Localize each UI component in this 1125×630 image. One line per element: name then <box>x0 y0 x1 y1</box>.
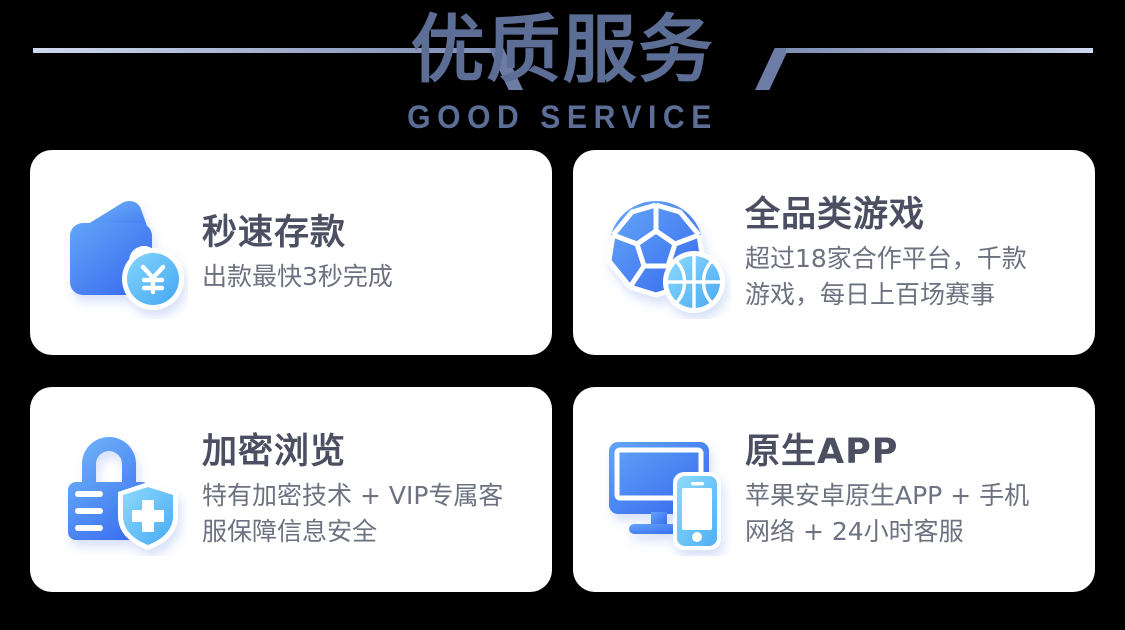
feature-card-deposit[interactable]: 秒速存款 出款最快3秒完成 <box>30 150 552 355</box>
feature-desc-line: 网络 + 24小时客服 <box>745 514 1079 550</box>
feature-title: 全品类游戏 <box>745 193 1079 237</box>
lock-shield-icon <box>56 424 188 556</box>
feature-card-text: 加密浏览 特有加密技术 + VIP专属客 服保障信息安全 <box>202 430 552 550</box>
feature-desc-line: 游戏，每日上百场赛事 <box>745 277 1079 313</box>
feature-card-native-app[interactable]: 原生APP 苹果安卓原生APP + 手机 网络 + 24小时客服 <box>573 387 1095 592</box>
feature-desc-line: 特有加密技术 + VIP专属客 <box>202 478 536 514</box>
page-subtitle: GOOD SERVICE <box>34 99 1092 135</box>
feature-desc-line: 出款最快3秒完成 <box>202 259 536 295</box>
page-title: 优质服务 <box>0 8 1125 92</box>
feature-desc-line: 超过18家合作平台，千款 <box>745 241 1079 277</box>
feature-desc-line: 苹果安卓原生APP + 手机 <box>745 478 1079 514</box>
feature-title: 秒速存款 <box>202 211 536 255</box>
wallet-coin-icon <box>56 187 188 319</box>
feature-card-text: 全品类游戏 超过18家合作平台，千款 游戏，每日上百场赛事 <box>745 193 1095 313</box>
feature-card-text: 秒速存款 出款最快3秒完成 <box>202 211 552 295</box>
feature-card-grid: 秒速存款 出款最快3秒完成 <box>30 150 1095 600</box>
feature-card-encryption[interactable]: 加密浏览 特有加密技术 + VIP专属客 服保障信息安全 <box>30 387 552 592</box>
feature-desc-line: 服保障信息安全 <box>202 514 536 550</box>
feature-card-text: 原生APP 苹果安卓原生APP + 手机 网络 + 24小时客服 <box>745 430 1095 550</box>
soccer-basketball-icon <box>599 187 731 319</box>
monitor-phone-icon <box>599 424 731 556</box>
feature-card-games[interactable]: 全品类游戏 超过18家合作平台，千款 游戏，每日上百场赛事 <box>573 150 1095 355</box>
feature-title: 原生APP <box>745 430 1079 474</box>
feature-title: 加密浏览 <box>202 430 536 474</box>
page-header: 优质服务 GOOD SERVICE <box>0 0 1125 148</box>
